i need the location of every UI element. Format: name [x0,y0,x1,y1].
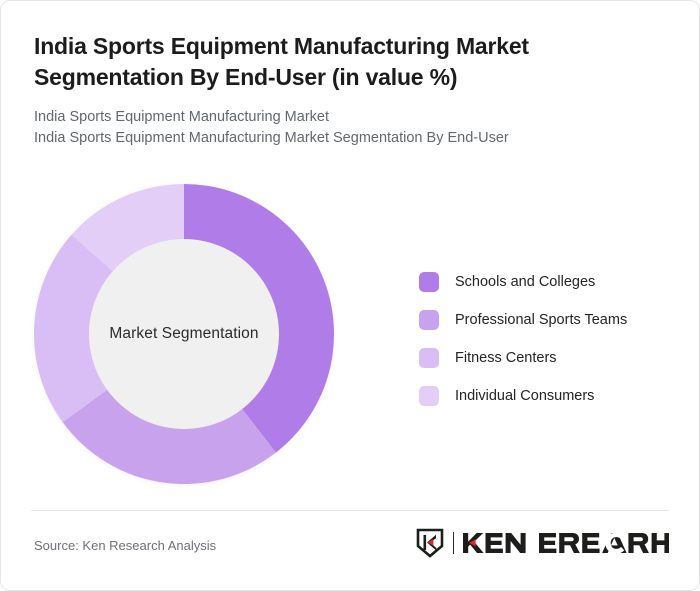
donut-hole [89,239,279,429]
chart-header: India Sports Equipment Manufacturing Mar… [34,31,669,149]
legend-item-label: Professional Sports Teams [455,312,627,328]
legend-swatch [419,272,439,292]
donut-chart: Market Segmentation [34,184,334,484]
chart-legend: Schools and CollegesProfessional Sports … [419,263,669,415]
subtitle-segmentation: India Sports Equipment Manufacturing Mar… [34,128,669,149]
page-title: India Sports Equipment Manufacturing Mar… [34,31,614,93]
legend-item-label: Individual Consumers [455,388,594,404]
brand-logo [415,528,669,558]
subtitle-market: India Sports Equipment Manufacturing Mar… [34,107,669,128]
source-note: Source: Ken Research Analysis [34,538,216,553]
legend-swatch [419,386,439,406]
legend-swatch [419,348,439,368]
legend-item[interactable]: Individual Consumers [419,377,669,415]
legend-item-label: Fitness Centers [455,350,557,366]
ken-research-wordmark [461,530,669,556]
chart-card: India Sports Equipment Manufacturing Mar… [0,0,700,591]
legend-item[interactable]: Schools and Colleges [419,263,669,301]
brand-separator [453,532,454,554]
legend-swatch [419,310,439,330]
subtitle-block: India Sports Equipment Manufacturing Mar… [34,107,669,149]
donut-chart-svg [34,184,334,484]
legend-item[interactable]: Professional Sports Teams [419,301,669,339]
footer-divider [31,510,669,511]
ken-research-shield-icon [415,528,445,558]
legend-item-label: Schools and Colleges [455,274,595,290]
legend-item[interactable]: Fitness Centers [419,339,669,377]
